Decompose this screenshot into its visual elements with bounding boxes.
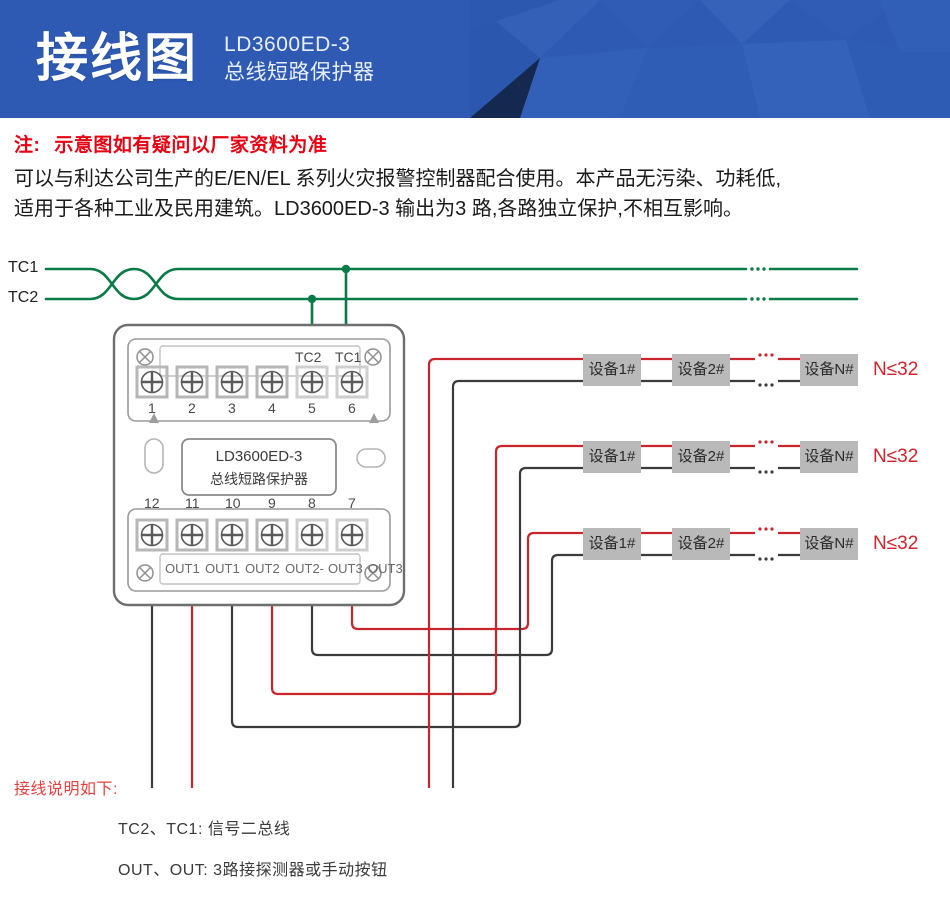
device-box-label: 设备1# (583, 443, 641, 471)
terminal-number-11: 11 (185, 495, 200, 511)
terminal-number-10: 10 (225, 495, 241, 511)
out-label-10: OUT2 (245, 561, 280, 576)
terminal-number-12: 12 (144, 495, 160, 511)
tc2-junction-dot (308, 295, 316, 303)
device-box-label: 设备N# (800, 356, 858, 384)
out-label-9: OUT2- (285, 561, 324, 576)
footer-note-item: OUT、OUT: 3路接探测器或手动按钮 (118, 856, 939, 880)
device-box-label: 设备N# (800, 530, 858, 558)
terminal-number-7: 7 (348, 495, 356, 511)
header-product-name: 总线短路保护器 (224, 59, 375, 87)
terminal-number-1: 1 (148, 400, 156, 416)
tc-bus-junction-dots (308, 265, 350, 303)
footer-title: 接线说明如下: (14, 775, 939, 799)
terminal-number-3: 3 (228, 400, 236, 416)
device-box-label: 设备N# (800, 443, 858, 471)
footer-note-item: TC2、TC1: 信号二总线 (118, 815, 939, 839)
terminal-number-2: 2 (188, 400, 196, 416)
terminal-number-8: 8 (308, 495, 316, 511)
terminal-tag-tc1: TC1 (335, 349, 361, 365)
out-label-8: OUT3 (328, 561, 363, 576)
page-header: 接线图 LD3600ED-3 总线短路保护器 (0, 0, 950, 118)
intro-block: 注:示意图如有疑问以厂家资料为准 可以与利达公司生产的E/EN/EL 系列火灾报… (14, 130, 939, 225)
limit-label-row-3: N≤32 (873, 533, 918, 555)
device-box-label: 设备2# (672, 530, 730, 558)
terminal-number-5: 5 (308, 400, 316, 416)
out-label-12: OUT1 (165, 561, 200, 576)
note-label: 注: (14, 135, 40, 156)
wiring-diagram-svg (0, 243, 950, 788)
device-row-ellipsis (758, 353, 773, 560)
header-model: LD3600ED-3 (224, 31, 375, 59)
page-title: 接线图 (36, 33, 198, 85)
tc-bus-wires (46, 269, 857, 325)
nameplate-model: LD3600ED-3 (182, 448, 336, 465)
terminal-tag-tc2: TC2 (295, 349, 321, 365)
tc-bus-ellipsis (750, 267, 765, 300)
device-box-label: 设备2# (672, 443, 730, 471)
tc1-junction-dot (342, 265, 350, 273)
header-subtitle: LD3600ED-3 总线短路保护器 (224, 31, 375, 87)
out-label-11: OUT1 (205, 561, 240, 576)
tc1-bus-label: TC1 (8, 259, 38, 277)
terminal-number-6: 6 (348, 400, 356, 416)
intro-paragraph-line-2: 适用于各种工业及民用建筑。LD3600ED-3 输出为3 路,各路独立保护,不相… (14, 194, 939, 224)
footer-notes: 接线说明如下: TC2、TC1: 信号二总线 OUT、OUT: 3路接探测器或手… (14, 775, 939, 897)
terminal-number-9: 9 (268, 495, 276, 511)
note-text: 示意图如有疑问以厂家资料为准 (54, 135, 327, 156)
device-box-label: 设备1# (583, 530, 641, 558)
terminal-number-4: 4 (268, 400, 276, 416)
note-line: 注:示意图如有疑问以厂家资料为准 (14, 130, 939, 157)
out-label-7: OUT3 (368, 561, 403, 576)
tc2-bus-label: TC2 (8, 289, 38, 307)
limit-label-row-2: N≤32 (873, 446, 918, 468)
device-box-label: 设备2# (672, 356, 730, 384)
wiring-diagram: TC1 TC2 TC2 TC1 1 2 3 4 5 6 LD3600ED-3 总… (0, 243, 950, 788)
limit-label-row-1: N≤32 (873, 359, 918, 381)
intro-paragraph-line-1: 可以与利达公司生产的E/EN/EL 系列火灾报警控制器配合使用。本产品无污染、功… (14, 164, 939, 194)
device-box-label: 设备1# (583, 356, 641, 384)
nameplate-product: 总线短路保护器 (182, 469, 336, 489)
